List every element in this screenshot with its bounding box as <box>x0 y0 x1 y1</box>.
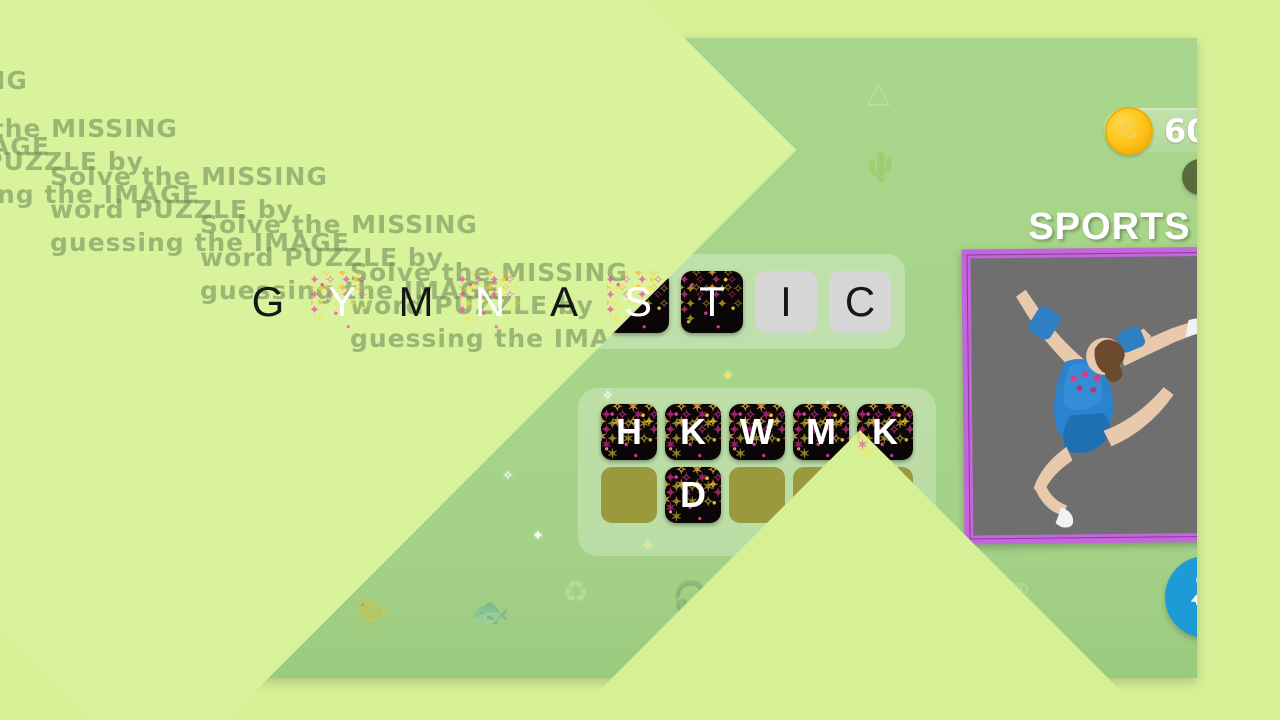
doodle-cactus: 🌵 <box>862 153 899 183</box>
sparkle: ✦ <box>532 528 544 542</box>
doodle-triangle-eye: △ <box>867 78 890 108</box>
bank-tile-letter: K <box>680 411 706 453</box>
coin-icon: C <box>1105 107 1153 155</box>
watermark-line: Solve the MISSING <box>200 210 478 239</box>
word-tile-letter: G <box>252 278 285 326</box>
word-tile-letter: M <box>399 278 434 326</box>
word-tile-8[interactable]: I <box>755 271 817 333</box>
gymnast-illustration <box>971 256 1197 536</box>
word-tile-letter: I <box>780 278 792 326</box>
doodle-chick: 🐤 <box>352 598 389 628</box>
word-tile-letter: N <box>475 278 505 326</box>
word-tile-letter: Y <box>328 278 356 326</box>
bank-tile-1-3[interactable]: W <box>729 404 785 460</box>
refresh-icon <box>1183 574 1197 620</box>
bank-tile-2-2[interactable]: D <box>665 467 721 523</box>
bank-tile-letter: W <box>740 411 774 453</box>
bank-tile-letter: M <box>806 411 836 453</box>
bank-tile-1-5[interactable]: K <box>857 404 913 460</box>
mode-button[interactable]: ‹ MODE <box>1182 159 1197 195</box>
bank-tile-letter: K <box>872 411 898 453</box>
watermark-line: Solve the MISSING <box>50 162 328 191</box>
bank-tile-1-2[interactable]: K <box>665 404 721 460</box>
letter-bank-row-1: HKWMK <box>592 404 922 460</box>
bank-tile-1-4[interactable]: M <box>793 404 849 460</box>
bank-tile-2-1 <box>601 467 657 523</box>
refresh-button[interactable] <box>1165 556 1197 638</box>
category-title: SPORTS <box>962 206 1197 249</box>
word-tile-4[interactable]: N <box>459 271 521 333</box>
word-tile-6[interactable]: S <box>607 271 669 333</box>
bank-tile-1-1[interactable]: H <box>601 404 657 460</box>
word-tile-letter: C <box>845 278 875 326</box>
word-tile-7[interactable]: T <box>681 271 743 333</box>
word-tile-letter: S <box>624 278 652 326</box>
word-tile-9[interactable]: C <box>829 271 891 333</box>
watermark-line: Solve the MISSING <box>0 66 28 95</box>
chevron-left-icon: ‹ <box>1196 167 1197 186</box>
word-tile-2[interactable]: Y <box>311 271 373 333</box>
puzzle-image <box>971 256 1197 536</box>
sparkle: ✦ <box>722 368 734 382</box>
doodle-horseshoe: ♻ <box>562 578 589 608</box>
word-tile-letter: A <box>550 278 578 326</box>
sparkle: ✧ <box>502 468 514 482</box>
word-tile-letter: T <box>699 278 725 326</box>
game-screen: 🌪 ☯ 🍓 △ 👽 🌵 🐾 🐍 🥑 🍪 🎮 🐤 🐟 ♻ 🎧 🐱 🅱 🌪 🍂 🥤 … <box>0 0 1280 720</box>
bank-tile-letter: D <box>680 474 706 516</box>
doodle-fish: 🐟 <box>472 598 509 628</box>
puzzle-image-frame <box>961 246 1197 544</box>
coin-count-label: 60 <box>1164 112 1197 150</box>
bank-tile-letter: H <box>616 411 642 453</box>
watermark-line: Solve the MISSING <box>0 114 178 143</box>
